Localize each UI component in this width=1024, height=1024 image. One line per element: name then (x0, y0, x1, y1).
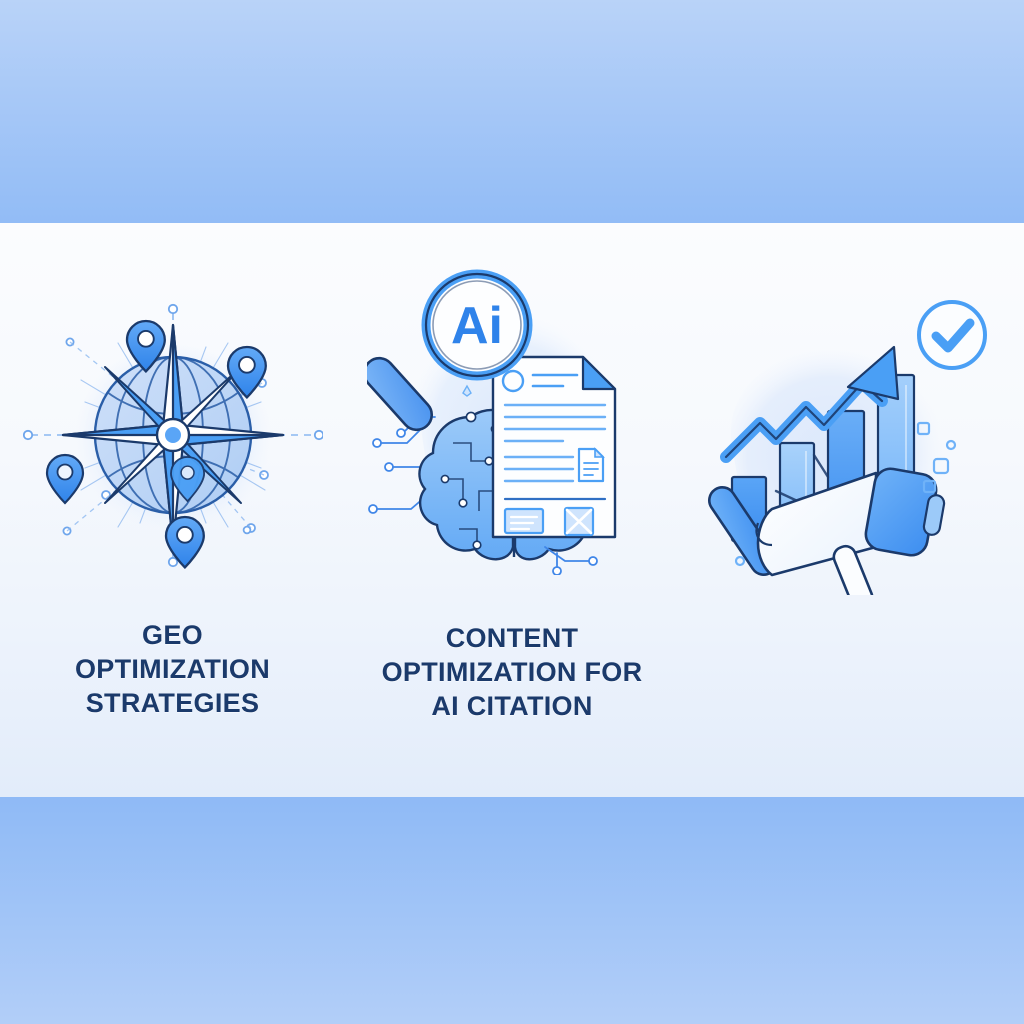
magnifying-glass: Ai (426, 274, 528, 376)
check-badge (919, 302, 985, 368)
caption-line: OPTIMIZATION FOR (345, 655, 679, 689)
bottom-blue-band (0, 797, 1024, 1024)
magnifier-ai-label: Ai (451, 297, 503, 355)
column-growth-promotion (679, 223, 1024, 797)
caption-line: CONTENT (345, 621, 679, 655)
caption-content-optimization: CONTENT OPTIMIZATION FOR AI CITATION (345, 621, 679, 723)
caption-line: STRATEGIES (0, 686, 345, 720)
bar-chart-megaphone-check-icon (702, 295, 1002, 595)
caption-line: GEO (0, 618, 345, 652)
compass-globe-location-pins-icon (23, 285, 323, 585)
top-blue-band (0, 0, 1024, 223)
column-content-optimization: Ai CONTENT OPTIMIZATION FOR AI CITATION (345, 223, 679, 797)
caption-line: AI CITATION (345, 689, 679, 723)
checkbox-tile (505, 509, 543, 533)
column-geo-optimization: GEO OPTIMIZATION STRATEGIES (0, 223, 345, 797)
magnifier-brain-document-icon: Ai (367, 265, 657, 575)
illustration-canvas: GEO OPTIMIZATION STRATEGIES (0, 0, 1024, 1024)
x-tile (565, 508, 593, 535)
document-page (493, 357, 615, 537)
caption-line: OPTIMIZATION (0, 652, 345, 686)
caption-geo-optimization: GEO OPTIMIZATION STRATEGIES (0, 618, 345, 720)
